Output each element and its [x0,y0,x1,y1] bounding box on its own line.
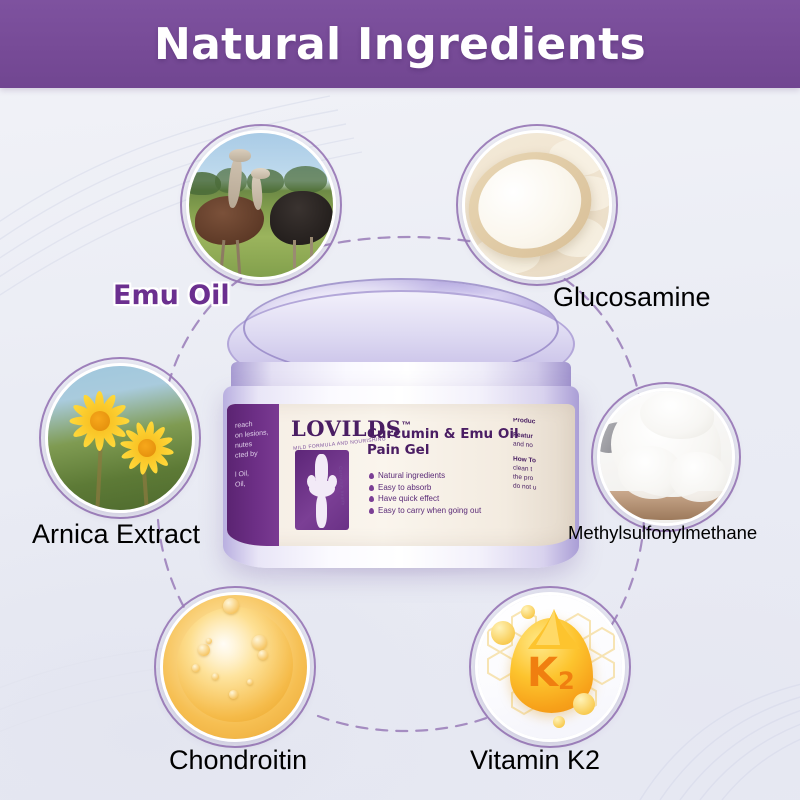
vitamin-k2-label: Vitamin K2 [470,745,600,776]
arnica-extract-label: Arnica Extract [32,519,200,550]
ingredient-arnica-extract[interactable] [45,363,195,513]
product-name-line1: Curcumin & Emu Oil [367,426,519,442]
label-left-text-block: reach on lesions, nutes cted by l Oil, O… [235,418,268,491]
arnica-photo [45,363,195,513]
header-banner: Natural Ingredients [0,0,800,88]
label-right-panel: Produc Featur and no How To clean t the … [513,418,571,528]
benefit-item: Easy to absorb [369,482,481,494]
glucosamine-label: Glucosamine [553,282,711,313]
ingredient-chondroitin[interactable] [160,592,310,742]
k2-letter: K [527,650,558,696]
benefit-item: Have quick effect [369,493,481,505]
droplet-bubble [553,716,565,728]
benefit-item: Natural ingredients [369,470,481,482]
ingredient-glucosamine[interactable] [462,130,612,280]
ingredient-vitamin-k2[interactable]: K2 [475,592,625,742]
product-benefits-list: Natural ingredients Easy to absorb Have … [369,470,481,516]
k2-subscript: 2 [558,667,575,695]
left-line: Oil, [235,477,268,491]
vitamin-k2-photo: K2 [475,592,625,742]
msm-photo [597,388,735,526]
droplet-bubble [491,621,515,645]
emu-oil-label: Emu Oil [113,280,230,311]
ingredient-methylsulfonylmethane[interactable] [597,388,735,526]
product-name-line2: Pain Gel [367,442,519,458]
ingredient-emu-oil[interactable] [186,130,336,280]
page-title: Natural Ingredients [154,19,646,70]
infographic-page: Natural Ingredients reach on lesions, [0,0,800,800]
arnica-flower-2 [108,409,186,487]
chondroitin-label: Chondroitin [169,745,307,776]
vitamin-k2-text: K2 [527,650,575,696]
methylsulfonylmethane-label: Methylsulfonylmethane [568,522,757,544]
label-left-panel: reach on lesions, nutes cted by l Oil, O… [227,404,279,546]
product-jar: reach on lesions, nutes cted by l Oil, O… [205,278,595,578]
jar-label: reach on lesions, nutes cted by l Oil, O… [227,404,575,546]
benefit-item: Easy to carry when going out [369,505,481,517]
chondroitin-photo [160,592,310,742]
emu-oil-photo [186,130,336,280]
glucosamine-photo [462,130,612,280]
product-name: Curcumin & Emu Oil Pain Gel [367,426,519,459]
droplet-bubble [573,693,595,715]
